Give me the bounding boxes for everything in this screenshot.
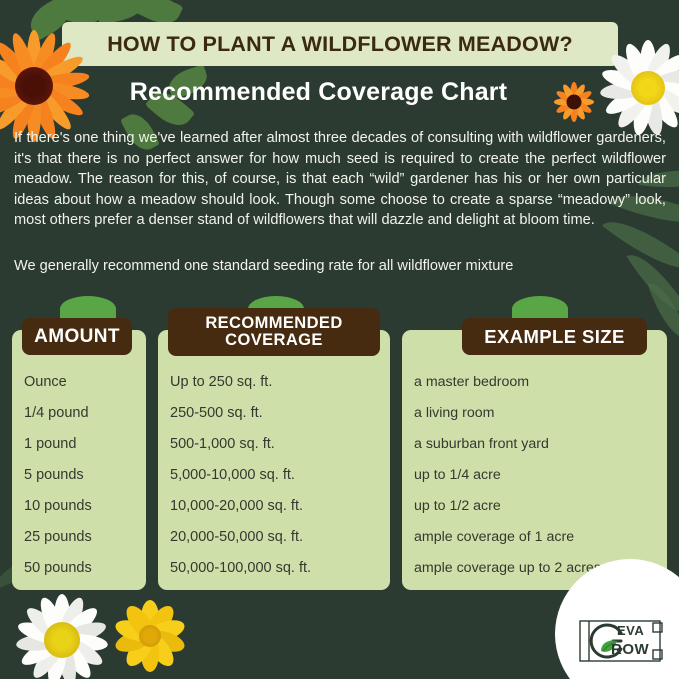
column-rows-example-size: a master bedroom a living room a suburba… [402, 367, 667, 584]
intro-paragraph: If there's one thing we've learned after… [14, 128, 666, 231]
table-cell: 50 pounds [24, 553, 134, 584]
table-cell: 250-500 sq. ft. [170, 398, 378, 429]
title-banner: HOW TO PLANT A WILDFLOWER MEADOW? [62, 22, 618, 66]
table-cell: a living room [414, 398, 655, 429]
flower-center [139, 625, 161, 647]
logo-text-eva: EVA [617, 623, 644, 638]
flower-center [44, 622, 80, 658]
table-cell: ample coverage of 1 acre [414, 522, 655, 553]
column-panel-amount: Ounce 1/4 pound 1 pound 5 pounds 10 poun… [12, 330, 146, 590]
column-header-example-size: EXAMPLE SIZE [462, 318, 647, 355]
column-header-amount: AMOUNT [22, 318, 132, 355]
logo-text-grow: ROW [611, 641, 649, 658]
table-cell: 50,000-100,000 sq. ft. [170, 553, 378, 584]
flower-center [631, 71, 665, 105]
flower-center [567, 95, 582, 110]
table-cell: 5,000-10,000 sq. ft. [170, 460, 378, 491]
table-cell: 25 pounds [24, 522, 134, 553]
table-cell: Ounce [24, 367, 134, 398]
yellow-coreopsis-flower [106, 592, 194, 679]
table-cell: 10 pounds [24, 491, 134, 522]
table-cell: 10,000-20,000 sq. ft. [170, 491, 378, 522]
table-cell: a master bedroom [414, 367, 655, 398]
table-cell: 1 pound [24, 429, 134, 460]
table-cell: 500-1,000 sq. ft. [170, 429, 378, 460]
table-cell: up to 1/2 acre [414, 491, 655, 522]
column-rows-coverage: Up to 250 sq. ft. 250-500 sq. ft. 500-1,… [158, 367, 390, 584]
small-orange-flower [552, 80, 596, 124]
table-cell: 1/4 pound [24, 398, 134, 429]
infographic-root: HOW TO PLANT A WILDFLOWER MEADOW? Recomm… [0, 0, 679, 679]
flower-center [15, 67, 53, 105]
column-panel-example-size: a master bedroom a living room a suburba… [402, 330, 667, 590]
column-header-recommended-coverage: RECOMMENDED COVERAGE [168, 308, 380, 356]
recommendation-paragraph: We generally recommend one standard seed… [14, 256, 666, 277]
eva-grow-logo[interactable]: EVA ROW [577, 617, 669, 665]
column-panel-coverage: Up to 250 sq. ft. 250-500 sq. ft. 500-1,… [158, 330, 390, 590]
column-rows-amount: Ounce 1/4 pound 1 pound 5 pounds 10 poun… [12, 367, 146, 584]
white-daisy-flower-bottom [4, 582, 120, 679]
table-cell: up to 1/4 acre [414, 460, 655, 491]
table-cell: 20,000-50,000 sq. ft. [170, 522, 378, 553]
subtitle-text: Recommended Coverage Chart [130, 78, 550, 107]
page-title: HOW TO PLANT A WILDFLOWER MEADOW? [107, 32, 573, 57]
table-cell: a suburban front yard [414, 429, 655, 460]
table-cell: 5 pounds [24, 460, 134, 491]
table-cell: Up to 250 sq. ft. [170, 367, 378, 398]
